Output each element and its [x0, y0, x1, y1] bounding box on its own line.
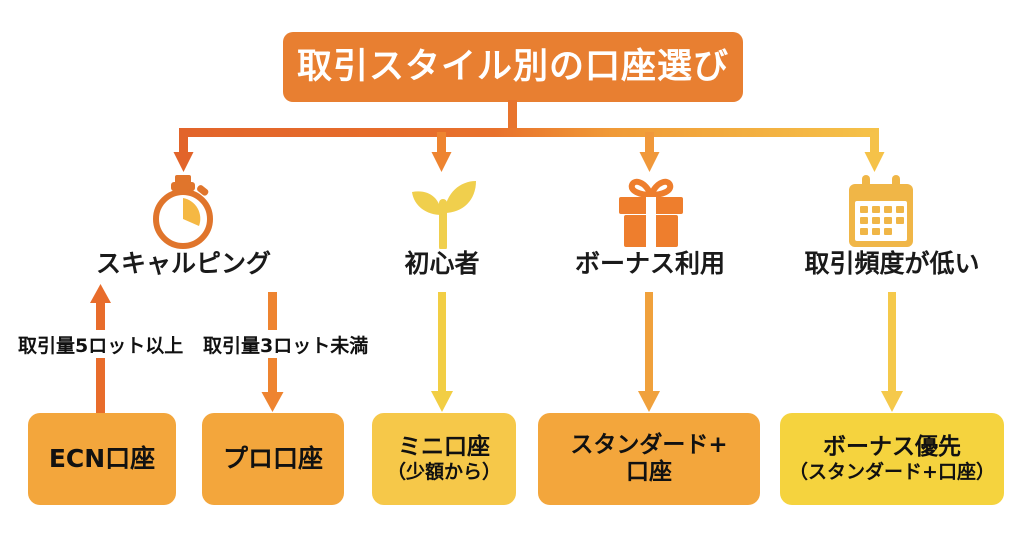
result-subline: （少額から） — [387, 461, 501, 483]
branch-arrow-4 — [865, 152, 885, 172]
result-line: ECN口座 — [49, 444, 155, 474]
diagram-title-text: 取引スタイル別の口座選び — [297, 50, 729, 85]
result-box-standard-plus-account[interactable]: スタンダード+ 口座 — [538, 413, 760, 505]
result-subline: 口座 — [570, 459, 727, 486]
result-line: スタンダード+ — [570, 432, 727, 459]
ecn-up-arrow — [90, 284, 111, 303]
result-subline: （スタンダード+口座） — [789, 461, 995, 483]
category-label-beginner: 初心者 — [350, 251, 534, 276]
result-line: ボーナス優先 — [789, 434, 995, 461]
result-line: ミニ口座 — [387, 434, 501, 461]
branch-arrow-2 — [432, 152, 452, 172]
edge-label-volume-under-3-lots: 取引量3ロット未満 — [202, 335, 369, 358]
calendar-icon — [836, 173, 926, 249]
stopwatch-icon — [138, 173, 228, 249]
gift-icon — [606, 173, 696, 249]
category-label-bonus: ボーナス利用 — [548, 251, 752, 276]
result-box-ecn-account[interactable]: ECN口座 — [28, 413, 176, 505]
trunk-line — [508, 100, 517, 132]
diagram-title-box: 取引スタイル別の口座選び — [283, 32, 743, 102]
branch-arrow-1 — [174, 152, 194, 172]
edge-label-volume-5-lots-or-more: 取引量5ロット以上 — [17, 335, 184, 358]
result-box-mini-account[interactable]: ミニ口座 （少額から） — [372, 413, 516, 505]
mini-down-arrow — [431, 391, 453, 412]
result-box-pro-account[interactable]: プロ口座 — [202, 413, 344, 505]
result-box-bonus-priority-account[interactable]: ボーナス優先 （スタンダード+口座） — [780, 413, 1004, 505]
bonus-down-arrow — [881, 391, 903, 412]
result-line: プロ口座 — [223, 444, 323, 474]
sprout-icon — [398, 173, 488, 249]
horizontal-bus — [179, 128, 879, 137]
standard-down-arrow — [638, 391, 660, 412]
pro-down-arrow — [262, 392, 284, 412]
branch-arrow-3 — [640, 152, 660, 172]
category-label-scalping: スキャルピング — [0, 251, 367, 276]
category-label-low-frequency: 取引頻度が低い — [772, 251, 1012, 276]
flowchart-diagram: 取引スタイル別の口座選び — [0, 0, 1024, 541]
